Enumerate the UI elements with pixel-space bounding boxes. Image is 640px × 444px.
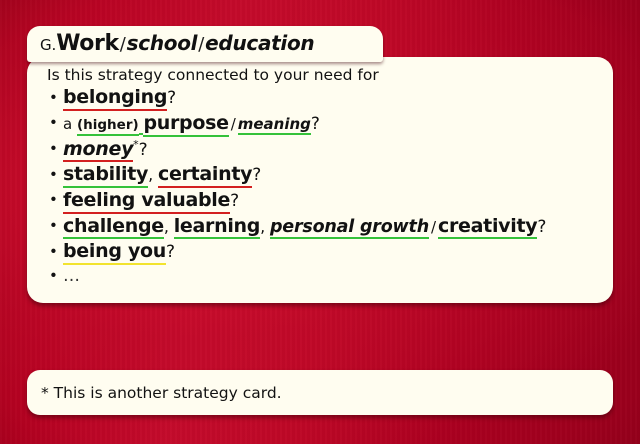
bullet-icon: • xyxy=(49,244,58,259)
need-item-money[interactable]: •money*? xyxy=(47,137,599,162)
text-run: purpose xyxy=(143,111,228,136)
need-item-text: … xyxy=(63,266,82,285)
need-item-ellipsis[interactable]: •… xyxy=(47,265,599,287)
need-item-challenge-learning-growth-creativity[interactable]: •challenge, learning, personal growth/cr… xyxy=(47,214,599,239)
footnote-card[interactable]: * This is another strategy card. xyxy=(27,370,613,415)
need-item-feeling-valuable[interactable]: •feeling valuable? xyxy=(47,188,599,213)
text-run: learning xyxy=(174,214,260,239)
title-separator-1: / xyxy=(119,34,127,55)
text-run: creativity xyxy=(438,214,537,239)
text-run: ? xyxy=(252,164,261,186)
need-item-text: money*? xyxy=(63,140,148,159)
text-run: ? xyxy=(537,216,546,238)
text-run: / xyxy=(229,115,238,135)
text-run: challenge xyxy=(63,214,164,239)
title-tertiary: education xyxy=(205,31,314,55)
need-item-belonging[interactable]: •belonging? xyxy=(47,85,599,110)
need-item-text: challenge, learning, personal growth/cre… xyxy=(63,217,546,236)
need-item-being-you[interactable]: •being you? xyxy=(47,239,599,264)
need-item-stability-certainty[interactable]: •stability, certainty? xyxy=(47,162,599,187)
title-secondary: school xyxy=(127,31,198,55)
text-run: money xyxy=(63,137,133,162)
need-item-purpose-meaning[interactable]: •a (higher) purpose/meaning? xyxy=(47,111,599,136)
need-item-text: being you? xyxy=(63,242,175,261)
text-run: feeling valuable xyxy=(63,188,230,213)
title-tab-text: G.Work/school/education xyxy=(40,33,314,55)
bullet-icon: • xyxy=(49,219,58,234)
text-run: (higher) xyxy=(77,117,139,135)
title-letter: G. xyxy=(40,36,56,54)
title-primary: Work xyxy=(56,31,118,56)
intro-question: Is this strategy connected to your need … xyxy=(47,66,599,84)
text-run: … xyxy=(63,265,82,287)
need-item-text: belonging? xyxy=(63,88,176,107)
need-item-text: stability, certainty? xyxy=(63,165,261,184)
text-run: / xyxy=(429,218,438,238)
bullet-icon: • xyxy=(49,167,58,182)
bullet-icon: • xyxy=(49,90,58,105)
slide-background: G.Work/school/education Is this strategy… xyxy=(0,0,640,444)
text-run: belonging xyxy=(63,85,167,110)
text-run: certainty xyxy=(158,162,252,187)
title-separator-2: / xyxy=(197,34,205,55)
text-run: ? xyxy=(311,113,320,135)
text-run: ? xyxy=(230,190,239,212)
footnote-text: * This is another strategy card. xyxy=(41,384,282,402)
need-item-text: a (higher) purpose/meaning? xyxy=(63,114,320,133)
text-run: personal growth xyxy=(270,216,429,239)
need-item-text: feeling valuable? xyxy=(63,191,239,210)
bullet-icon: • xyxy=(49,269,58,284)
strategy-card-body: Is this strategy connected to your need … xyxy=(27,57,613,303)
needs-list: •belonging?•a (higher) purpose/meaning?•… xyxy=(41,85,599,287)
text-run: ? xyxy=(167,87,176,109)
bullet-icon: • xyxy=(49,116,58,131)
bullet-icon: • xyxy=(49,142,58,157)
text-run: stability xyxy=(63,162,148,187)
text-run: meaning xyxy=(238,115,311,135)
text-run: being you xyxy=(63,239,166,264)
text-run: a xyxy=(63,115,72,135)
bullet-icon: • xyxy=(49,193,58,208)
text-run: ? xyxy=(139,139,148,161)
text-run: ? xyxy=(166,241,175,263)
strategy-card-title-tab[interactable]: G.Work/school/education xyxy=(27,26,383,62)
